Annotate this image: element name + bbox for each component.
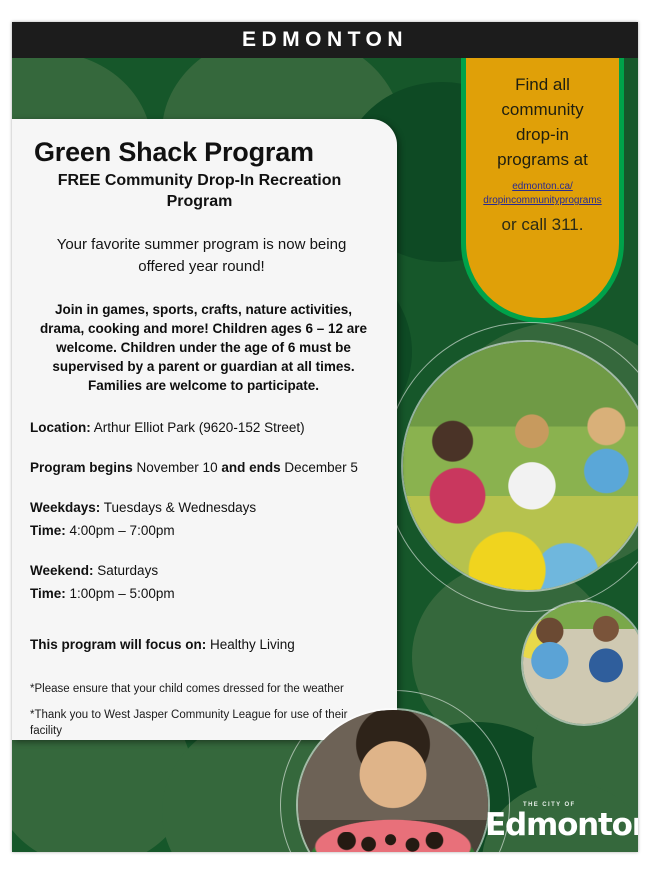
detail-location: Location: Arthur Elliot Park (9620-152 S… — [30, 417, 383, 438]
detail-weekdays: Weekdays: Tuesdays & Wednesdays — [30, 497, 383, 518]
poster-page: EDMONTON Find all community drop-in prog… — [0, 0, 660, 875]
program-subtitle-line-1: FREE Community Drop-In Recreation — [30, 170, 369, 191]
focus-value: Healthy Living — [206, 637, 295, 652]
photo-hopscotch-artwork — [523, 602, 638, 724]
callout-line-1: Find all — [474, 72, 611, 97]
callout-link-line-2[interactable]: dropincommunityprograms — [474, 194, 611, 208]
weekend-value: Saturdays — [94, 563, 159, 578]
detail-program-dates: Program begins November 10 and ends Dece… — [30, 457, 383, 478]
photo-kids-artwork — [403, 342, 638, 590]
logo-wordmark: Edmonton — [485, 807, 638, 843]
photo-hopscotch — [523, 602, 638, 724]
location-label: Location: — [30, 420, 91, 435]
program-begins-value: November 10 — [133, 460, 222, 475]
weekend-label: Weekend: — [30, 563, 94, 578]
callout-line-4: programs at — [474, 147, 611, 172]
program-subtitle-line-2: Program — [30, 191, 369, 212]
program-ends-label: and ends — [221, 460, 280, 475]
footnote-weather: *Please ensure that your child comes dre… — [30, 681, 350, 697]
program-begins-label: Program begins — [30, 460, 133, 475]
callout-line-3: drop-in — [474, 122, 611, 147]
detail-weekend-time: Time: 1:00pm – 5:00pm — [30, 583, 383, 604]
poster-canvas: EDMONTON Find all community drop-in prog… — [12, 22, 638, 852]
page-title: Green Shack Program — [34, 137, 383, 168]
focus-label: This program will focus on: — [30, 637, 206, 652]
callout-line-2: community — [474, 97, 611, 122]
weekend-time-value: 1:00pm – 5:00pm — [66, 586, 175, 601]
detail-focus: This program will focus on: Healthy Livi… — [30, 634, 383, 655]
photo-child-watermelon — [298, 710, 488, 852]
detail-weekend: Weekend: Saturdays — [30, 560, 383, 581]
location-value: Arthur Elliot Park (9620-152 Street) — [91, 420, 305, 435]
weekdays-value: Tuesdays & Wednesdays — [100, 500, 256, 515]
photo-kids-playing — [403, 342, 638, 590]
program-info-card-body: Green Shack Program FREE Community Drop-… — [12, 119, 397, 739]
program-details: Location: Arthur Elliot Park (9620-152 S… — [30, 417, 383, 655]
weekday-time-value: 4:00pm – 7:00pm — [66, 523, 175, 538]
program-ends-value: December 5 — [281, 460, 358, 475]
city-name-header: EDMONTON — [242, 28, 408, 52]
weekdays-label: Weekdays: — [30, 500, 100, 515]
header-band: EDMONTON — [12, 22, 638, 58]
program-tagline: Your favorite summer program is now bein… — [36, 234, 367, 278]
program-info-card: Green Shack Program FREE Community Drop-… — [12, 119, 397, 740]
callout-phone-line: or call 311. — [474, 214, 611, 236]
detail-weekday-time: Time: 4:00pm – 7:00pm — [30, 520, 383, 541]
callout-link-line-1[interactable]: edmonton.ca/ — [474, 180, 611, 194]
drop-in-programs-callout: Find all community drop-in programs at e… — [461, 58, 624, 323]
weekday-time-label: Time: — [30, 523, 66, 538]
program-description: Join in games, sports, crafts, nature ac… — [36, 300, 371, 395]
weekend-time-label: Time: — [30, 586, 66, 601]
city-of-edmonton-logo: THE CITY OF Edmonton — [485, 802, 625, 848]
watermelon-seeds — [332, 832, 454, 852]
callout-link-group[interactable]: edmonton.ca/ dropincommunityprograms — [474, 180, 611, 208]
